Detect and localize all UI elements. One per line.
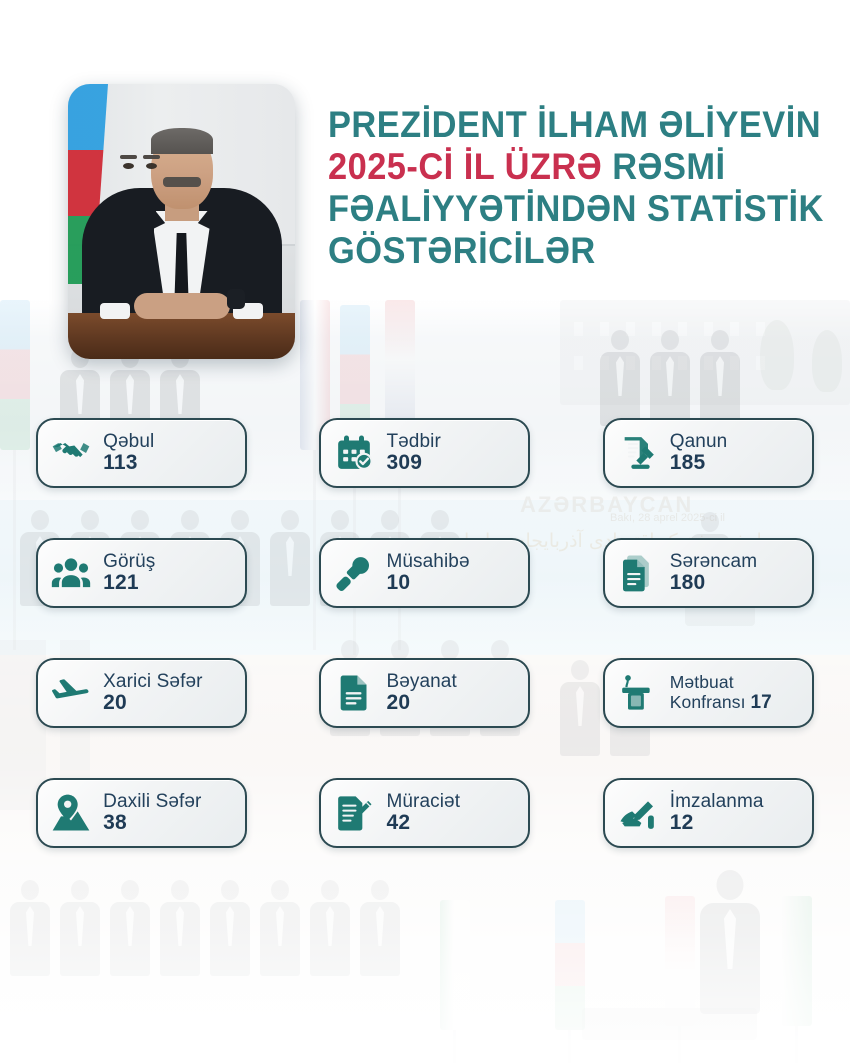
stats-cell: MətbuatKonfransı 17 — [567, 658, 850, 778]
stat-value: 12 — [670, 812, 764, 834]
stat-text: Qəbul113 — [103, 432, 154, 474]
stat-text: Daxili Səfər38 — [103, 792, 201, 834]
stats-row: Daxili Səfər38Müraciət42İmzalanma12 — [0, 778, 850, 898]
wristwatch — [227, 289, 245, 309]
stat-value: 185 — [670, 452, 728, 474]
stat-text: Sərəncam180 — [670, 552, 757, 594]
stat-card-mətbuat[interactable]: MətbuatKonfransı 17 — [603, 658, 814, 728]
stat-card-tədbir[interactable]: Tədbir309 — [319, 418, 530, 488]
stat-card-müraciət[interactable]: Müraciət42 — [319, 778, 530, 848]
stat-value: 20 — [386, 692, 456, 714]
stat-value: 17 — [751, 692, 772, 713]
stat-text: Müraciət42 — [386, 792, 460, 834]
title-line-1: PREZİDENT İLHAM ƏLİYEVİN — [328, 104, 774, 146]
stats-cell: İmzalanma12 — [567, 778, 850, 898]
stats-cell: Müsahibə10 — [283, 538, 566, 658]
stat-label: Tədbir — [386, 432, 440, 452]
stat-label: Xarici Səfər — [103, 672, 202, 692]
stats-cell: Sərəncam180 — [567, 538, 850, 658]
stat-text: Müsahibə10 — [386, 552, 469, 594]
stats-cell: Müraciət42 — [283, 778, 566, 898]
law-gavel-icon — [617, 432, 659, 474]
podium-icon — [617, 672, 659, 714]
stat-value: 309 — [386, 452, 440, 474]
stat-card-i̇mzalanma[interactable]: İmzalanma12 — [603, 778, 814, 848]
stats-cell: Daxili Səfər38 — [0, 778, 283, 898]
title-line-3: FƏALİYYƏTİNDƏN STATİSTİK — [328, 188, 774, 230]
stats-row: Görüş121Müsahibə10Sərəncam180 — [0, 538, 850, 658]
stat-card-qanun[interactable]: Qanun185 — [603, 418, 814, 488]
stat-label: Mətbuat — [670, 673, 772, 693]
stat-value: 20 — [103, 692, 202, 714]
president-portrait — [68, 84, 295, 359]
stat-card-sərəncam[interactable]: Sərəncam180 — [603, 538, 814, 608]
title-line-2: 2025-Cİ İL ÜZRƏ RƏSMİ — [328, 146, 774, 188]
stat-text: İmzalanma12 — [670, 792, 764, 834]
stat-card-bəyanat[interactable]: Bəyanat20 — [319, 658, 530, 728]
stats-cell: Bəyanat20 — [283, 658, 566, 778]
stats-cell: Qəbul113 — [0, 418, 283, 538]
stat-label: İmzalanma — [670, 792, 764, 812]
handshake-icon — [50, 432, 92, 474]
stats-row: Qəbul113Tədbir309Qanun185 — [0, 418, 850, 538]
stat-label: Sərəncam — [670, 552, 757, 572]
calendar-check-icon — [333, 432, 375, 474]
map-pin-icon — [50, 792, 92, 834]
document-pen-icon — [333, 792, 375, 834]
stat-value: 180 — [670, 572, 757, 594]
stat-card-müsahibə[interactable]: Müsahibə10 — [319, 538, 530, 608]
stat-label-line2: Konfransı 17 — [670, 692, 772, 713]
stat-text: Xarici Səfər20 — [103, 672, 202, 714]
stat-card-daxili-səfər[interactable]: Daxili Səfər38 — [36, 778, 247, 848]
stats-cell: Görüş121 — [0, 538, 283, 658]
stat-card-görüş[interactable]: Görüş121 — [36, 538, 247, 608]
title-line-2-tail: RƏSMİ — [602, 146, 725, 187]
people-group-icon — [50, 552, 92, 594]
title-accent-year: 2025-Cİ İL ÜZRƏ — [328, 146, 602, 187]
stat-text: Bəyanat20 — [386, 672, 456, 714]
stat-label: Müsahibə — [386, 552, 469, 572]
stat-value: 113 — [103, 452, 154, 474]
stats-cell: Tədbir309 — [283, 418, 566, 538]
stat-value: 121 — [103, 572, 155, 594]
stats-cell: Qanun185 — [567, 418, 850, 538]
stats-grid: Qəbul113Tədbir309Qanun185Görüş121Müsahib… — [0, 418, 850, 898]
stat-label: Müraciət — [386, 792, 460, 812]
airplane-icon — [50, 672, 92, 714]
stat-card-xarici-səfər[interactable]: Xarici Səfər20 — [36, 658, 247, 728]
page-title: PREZİDENT İLHAM ƏLİYEVİN 2025-Cİ İL ÜZRƏ… — [328, 104, 808, 272]
stat-card-qəbul[interactable]: Qəbul113 — [36, 418, 247, 488]
stat-text: MətbuatKonfransı 17 — [670, 673, 772, 714]
stat-label: Qanun — [670, 432, 728, 452]
stat-text: Görüş121 — [103, 552, 155, 594]
document-icon — [333, 672, 375, 714]
stat-text: Qanun185 — [670, 432, 728, 474]
stats-row: Xarici Səfər20Bəyanat20MətbuatKonfransı … — [0, 658, 850, 778]
microphone-icon — [333, 552, 375, 594]
stat-value: 38 — [103, 812, 201, 834]
stat-label: Qəbul — [103, 432, 154, 452]
stat-label: Görüş — [103, 552, 155, 572]
stat-value: 42 — [386, 812, 460, 834]
header: PREZİDENT İLHAM ƏLİYEVİN 2025-Cİ İL ÜZRƏ… — [0, 0, 850, 400]
documents-icon — [617, 552, 659, 594]
title-line-4: GÖSTƏRİCİLƏR — [328, 230, 774, 272]
signing-hand-icon — [617, 792, 659, 834]
stat-text: Tədbir309 — [386, 432, 440, 474]
stat-label: Bəyanat — [386, 672, 456, 692]
stats-cell: Xarici Səfər20 — [0, 658, 283, 778]
stat-label: Daxili Səfər — [103, 792, 201, 812]
stat-value: 10 — [386, 572, 469, 594]
